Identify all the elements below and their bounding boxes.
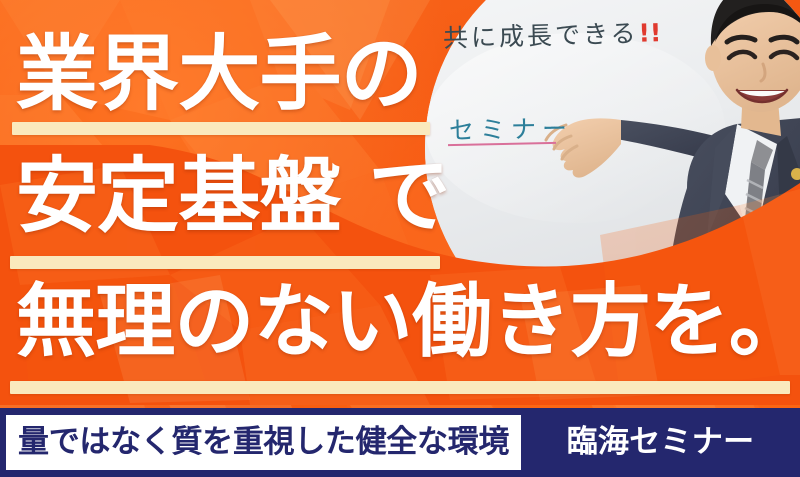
headline-line-2: 安定基盤 で — [16, 156, 450, 238]
headline-line-1: 業界大手の — [16, 34, 422, 116]
headline-line-1-text: 業界大手の — [16, 27, 422, 122]
headline-rule-2 — [10, 256, 440, 269]
headline-line-2-text: 安定基盤 で — [16, 149, 450, 244]
recruitment-banner: 共に成長できる!! セミナー 業界大手の — [0, 0, 800, 477]
tagline-text: 量ではなく質を重視した健全な環境 — [18, 427, 509, 458]
tagline-panel: 量ではなく質を重視した健全な環境 — [6, 415, 521, 470]
headline-line-3-text: 無理のない働き方を。 — [16, 275, 800, 368]
headline-line-3: 無理のない働き方を。 — [16, 282, 800, 362]
headline-rule-1 — [12, 122, 430, 135]
headline-rule-3 — [10, 381, 790, 394]
brand-name: 臨海セミナー — [567, 427, 755, 458]
bottom-bar: 量ではなく質を重視した健全な環境 臨海セミナー — [0, 408, 800, 477]
brand-wrap: 臨海セミナー — [521, 408, 800, 477]
headline-group: 業界大手の 安定基盤 で 無理のない働き方を。 — [0, 0, 800, 405]
